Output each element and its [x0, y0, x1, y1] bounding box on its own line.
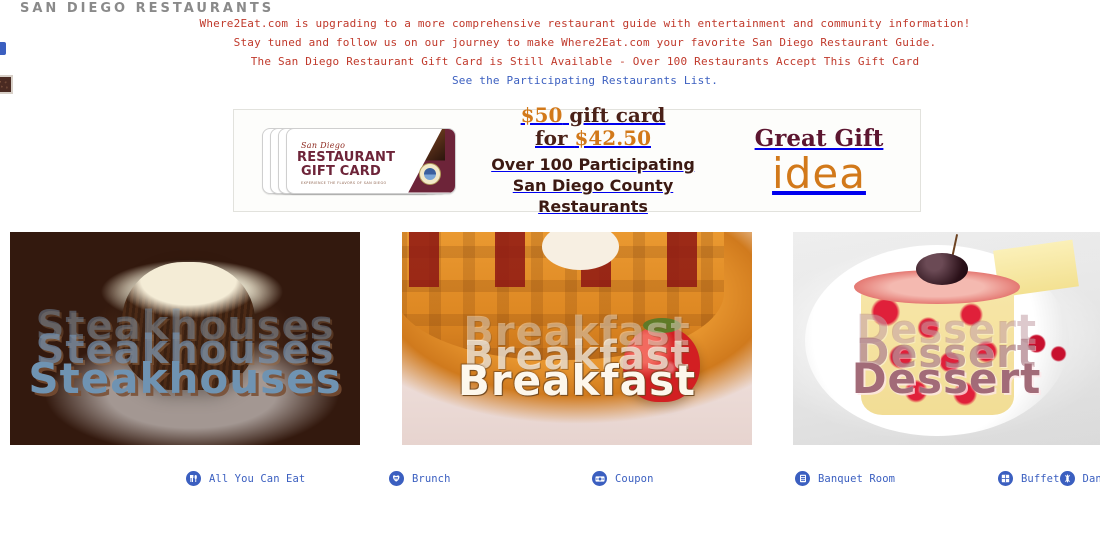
- gift-card-price-block: $50 gift card for $42.50 Over 100 Partic…: [462, 104, 724, 217]
- feature-link-all-you-can-eat[interactable]: All You Can Eat: [186, 466, 389, 491]
- steak-garnish: [164, 266, 220, 285]
- banquet-icon: [795, 471, 810, 486]
- feature-label: Banquet Room: [818, 473, 895, 485]
- breakfast-photo: [402, 232, 752, 445]
- edge-thumbnail-artifact: [0, 75, 13, 94]
- feature-label: All You Can Eat: [209, 473, 305, 485]
- cutlery-icon: [186, 471, 201, 486]
- dessert-sauce: [1020, 330, 1075, 364]
- coupon-icon: [592, 471, 607, 486]
- cherry: [916, 253, 968, 285]
- feature-label: Coupon: [615, 473, 654, 485]
- announcement-line-3: The San Diego Restaurant Gift Card is St…: [180, 52, 990, 71]
- feature-link-brunch[interactable]: Brunch: [389, 466, 592, 491]
- announcement-line-2: Stay tuned and follow us on our journey …: [180, 33, 990, 52]
- gift-card-banner[interactable]: San Diego RESTAURANT GIFT CARD EXPERIENC…: [233, 109, 921, 212]
- price-amount-50: $50: [521, 103, 563, 127]
- feature-link-coupon[interactable]: Coupon: [592, 466, 795, 491]
- steakhouse-photo: [10, 232, 360, 445]
- gift-card-front: San Diego RESTAURANT GIFT CARD EXPERIENC…: [286, 128, 456, 194]
- great-gift-idea-block: Great Gift idea: [724, 126, 920, 196]
- feature-label: Dancing: [1083, 473, 1100, 485]
- gift-card-seal: [419, 163, 441, 185]
- announcement-line-1: Where2Eat.com is upgrading to a more com…: [180, 14, 990, 33]
- feature-link-dancing[interactable]: Dancing: [1060, 466, 1100, 491]
- idea-text: idea: [724, 152, 914, 196]
- category-card-dessert[interactable]: Dessert Dessert Dessert: [793, 232, 1100, 445]
- great-gift-text: Great Gift: [724, 126, 914, 152]
- feature-label: Buffet: [1021, 473, 1060, 485]
- buffet-icon: [998, 471, 1013, 486]
- category-card-breakfast[interactable]: Breakfast Breakfast Breakfast: [402, 232, 752, 445]
- edge-blue-artifact: [0, 42, 6, 55]
- category-card-steakhouses[interactable]: Steakhouses Steakhouses Steakhouses: [10, 232, 360, 445]
- feature-label: Brunch: [412, 473, 451, 485]
- banner-subline-2: San Diego County Restaurants: [462, 175, 724, 217]
- price-amount-4250: $42.50: [574, 126, 651, 150]
- gift-card-tagline: EXPERIENCE THE FLAVORS OF SAN DIEGO: [301, 181, 387, 185]
- gift-card-script-label: San Diego: [301, 141, 345, 150]
- page-root: SAN DIEGO RESTAURANTS Where2Eat.com is u…: [0, 0, 1100, 541]
- price-line-1: $50 gift card: [462, 104, 724, 127]
- gift-card-title-line-2: GIFT CARD: [301, 165, 381, 178]
- price-label-for: for: [535, 126, 574, 150]
- participating-restaurants-link[interactable]: See the Participating Restaurants List.: [180, 71, 990, 90]
- price-label-gift-card: gift card: [562, 103, 665, 127]
- feature-link-banquet-room[interactable]: Banquet Room: [795, 466, 998, 491]
- dessert-photo: [793, 232, 1100, 445]
- price-line-2: for $42.50: [462, 127, 724, 150]
- strawberry: [623, 326, 700, 403]
- gift-card-stack-image: San Diego RESTAURANT GIFT CARD EXPERIENC…: [262, 120, 462, 202]
- feature-link-buffet[interactable]: Buffet: [998, 466, 1060, 491]
- dancing-icon: [1060, 471, 1075, 486]
- brunch-icon: [389, 471, 404, 486]
- feature-links-grid: All You Can Eat Brunch Coupon Banquet Ro…: [186, 466, 1086, 491]
- gift-card-title-line-1: RESTAURANT: [297, 151, 395, 164]
- announcement-block: Where2Eat.com is upgrading to a more com…: [180, 14, 990, 90]
- banner-subline-1: Over 100 Participating: [462, 154, 724, 175]
